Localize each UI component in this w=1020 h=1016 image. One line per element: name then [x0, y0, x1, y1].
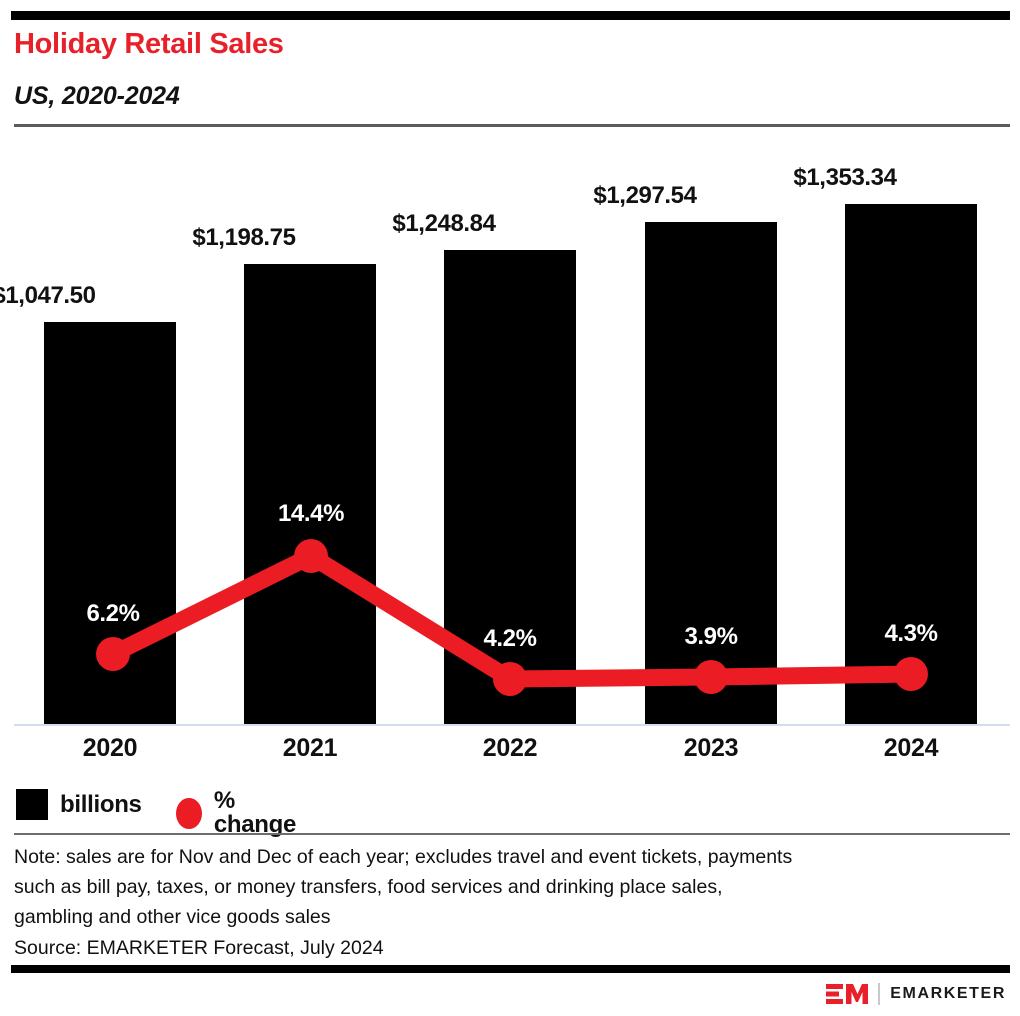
x-axis-tick-2024: 2024	[811, 734, 1011, 763]
legend-circle-icon	[176, 798, 202, 829]
note-divider	[14, 833, 1010, 835]
x-axis-tick-2023: 2023	[611, 734, 811, 763]
x-axis-tick-2022: 2022	[410, 734, 610, 763]
legend-square-icon	[16, 789, 48, 820]
legend-item-percent-change: % change	[176, 789, 302, 837]
x-axis-tick-2021: 2021	[210, 734, 410, 763]
note-line: such as bill pay, taxes, or money transf…	[14, 872, 974, 902]
percent-change-label: 4.3%	[831, 620, 991, 648]
legend-label-billions: billions	[60, 793, 142, 817]
chart-source: Source: EMARKETER Forecast, July 2024	[14, 934, 384, 962]
percent-change-marker	[493, 662, 527, 696]
percent-change-label: 14.4%	[231, 500, 391, 528]
chart-plot-area: $1,047.50 $1,198.75 $1,248.84 $1,297.54 …	[0, 0, 1020, 740]
percent-change-label: 6.2%	[33, 600, 193, 628]
percent-change-label: 4.2%	[430, 625, 590, 653]
x-axis-tick-2020: 2020	[10, 734, 210, 763]
percent-change-marker	[294, 539, 328, 573]
brand-wordmark: EMARKETER	[890, 986, 1006, 1002]
note-line: gambling and other vice goods sales	[14, 902, 974, 932]
percent-change-marker	[894, 657, 928, 691]
percent-change-marker	[96, 637, 130, 671]
percent-change-label: 3.9%	[631, 623, 791, 651]
percent-change-polyline	[113, 556, 911, 679]
percent-change-marker	[694, 660, 728, 694]
legend-label-percent-change: % change	[214, 789, 302, 837]
brand-footer: EMARKETER	[826, 981, 1006, 1007]
footer-rule	[11, 965, 1010, 973]
legend-item-billions: billions	[16, 789, 142, 820]
note-line: Note: sales are for Nov and Dec of each …	[14, 842, 974, 872]
chart-note: Note: sales are for Nov and Dec of each …	[14, 842, 974, 932]
brand-divider	[878, 983, 880, 1005]
emarketer-logo-icon	[826, 982, 868, 1006]
